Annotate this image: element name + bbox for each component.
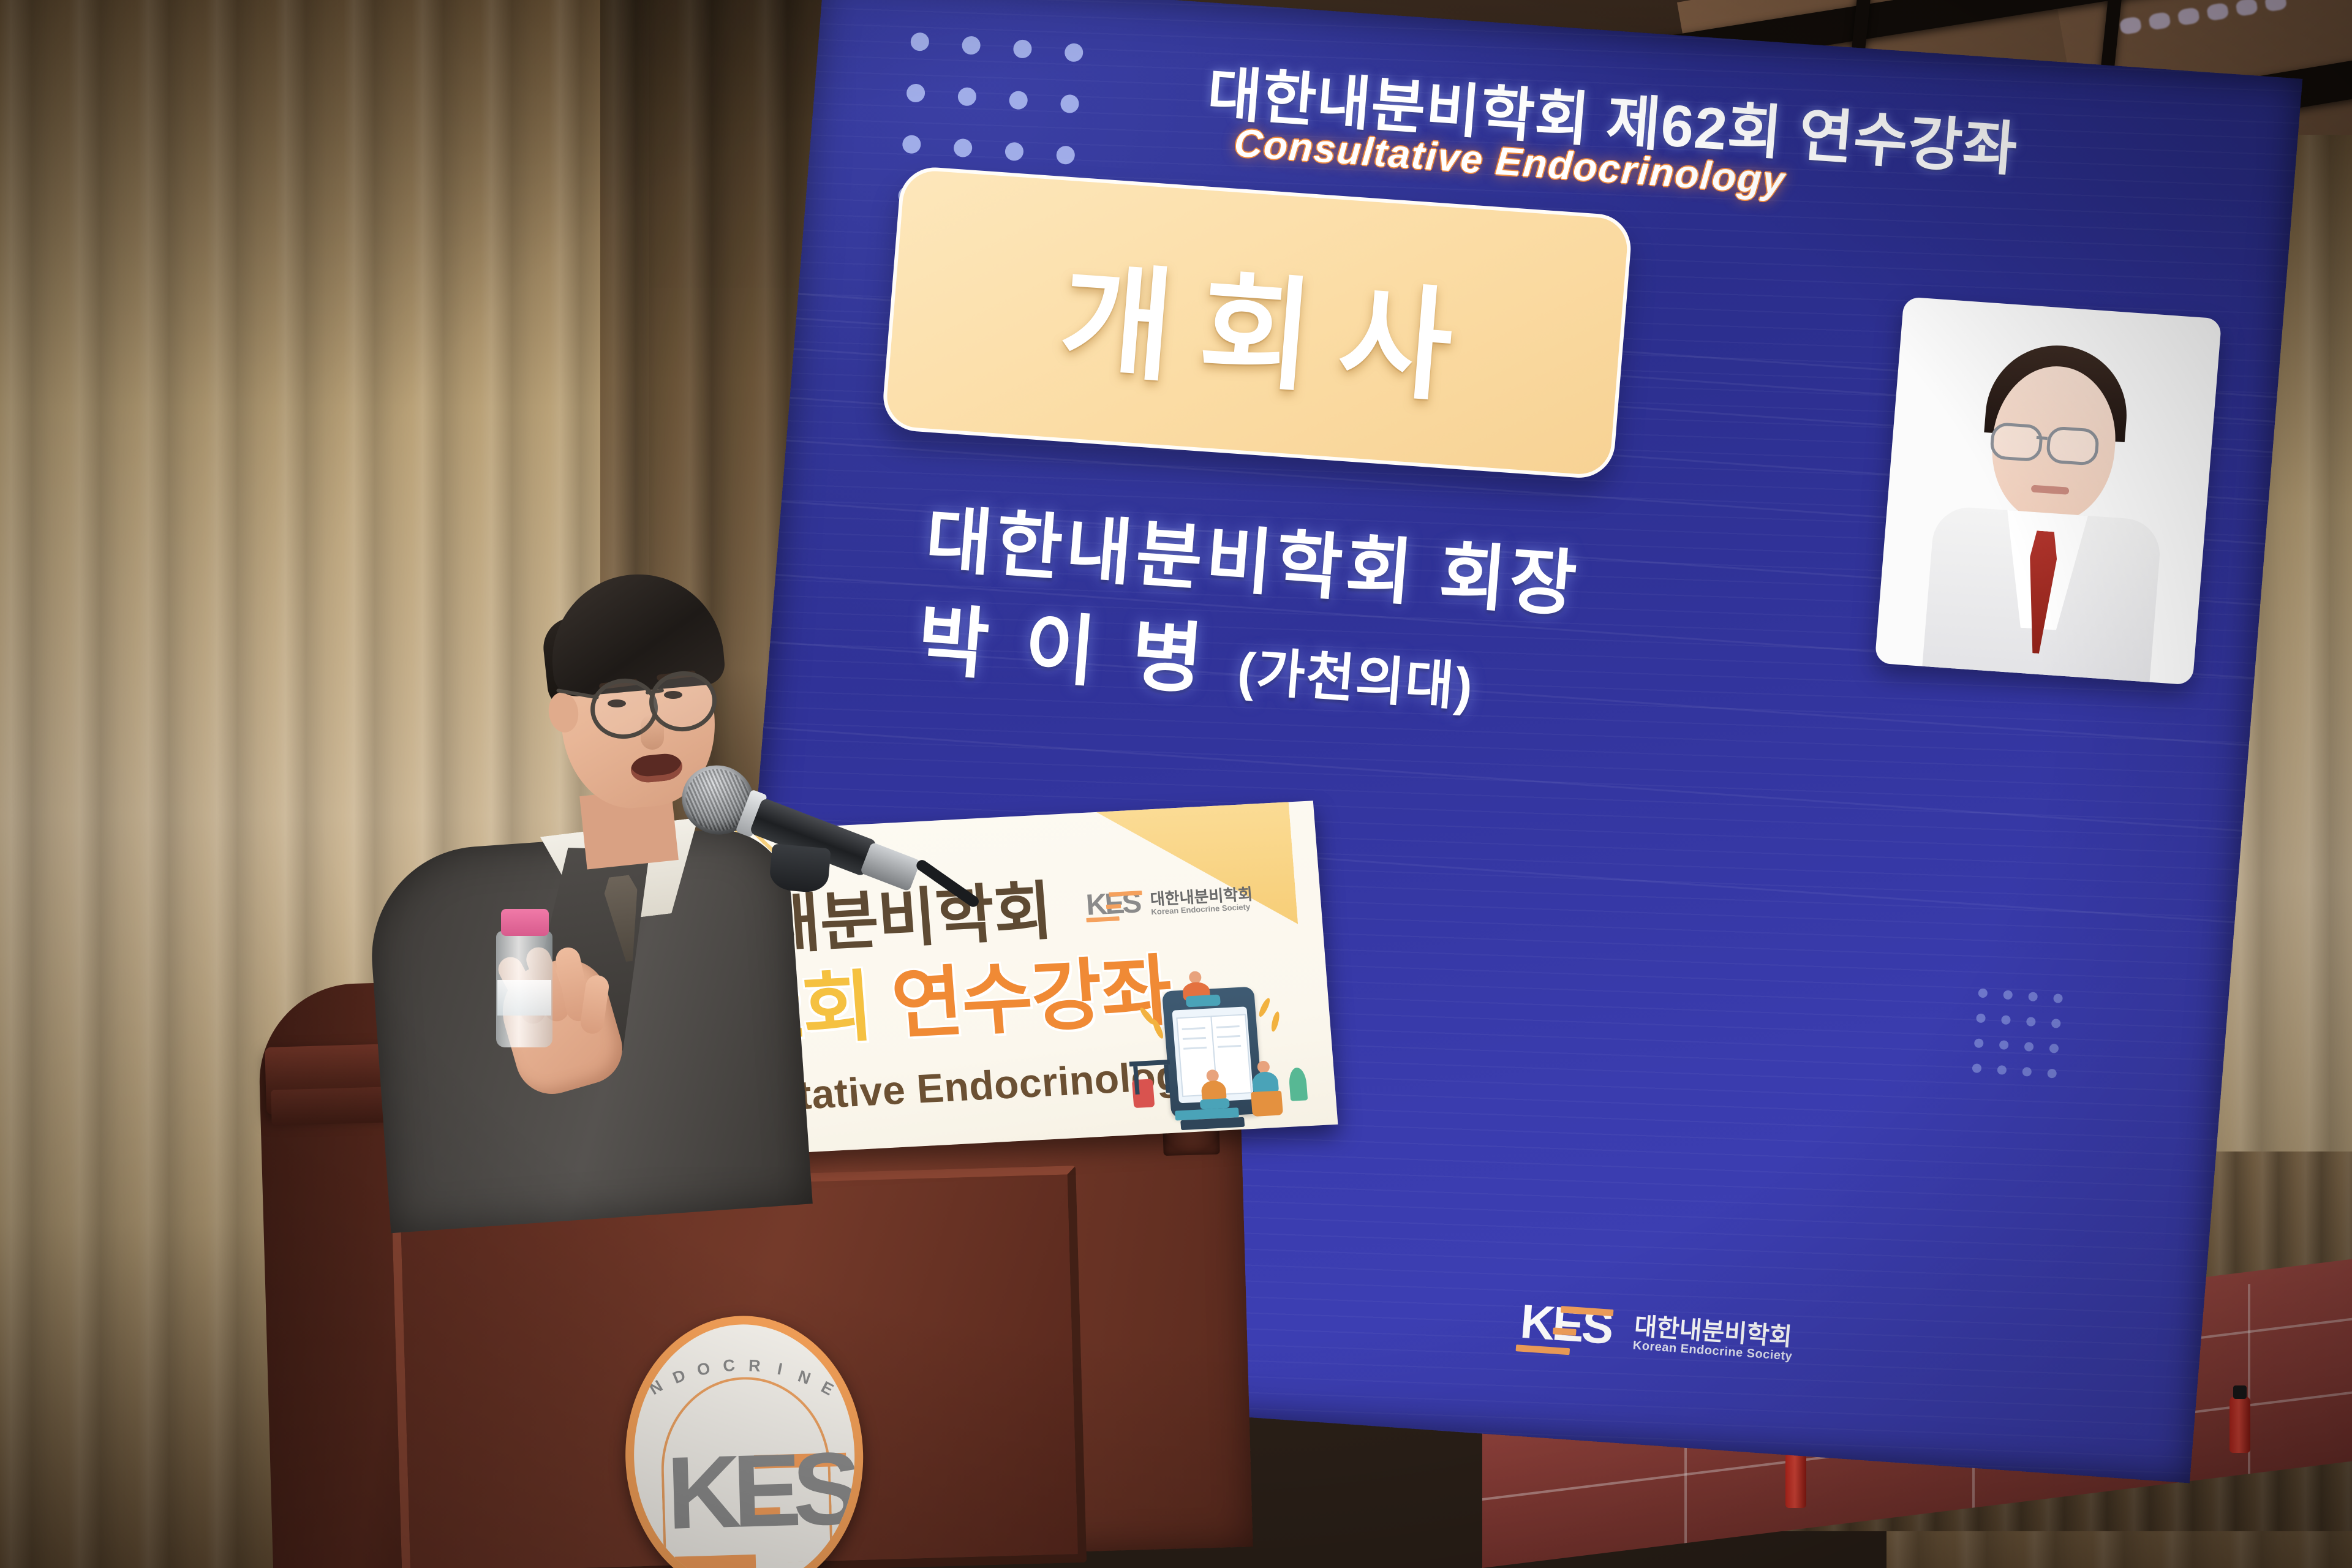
microphone-xlr-connector <box>860 842 921 892</box>
slide-speaker-affiliation: (가천의대) <box>1235 642 1476 717</box>
podium-kes-emblem: KOREAN ENDOCRINE SOCIETY KES <box>622 1313 867 1568</box>
conference-photo-scene: 대한내분비학회 제62회 연수강좌 Consultative Endocrino… <box>0 0 2352 1568</box>
illustration-plant <box>1288 1067 1308 1101</box>
emblem-kes-letters: KES <box>665 1436 854 1544</box>
sign-kes-logo: KES 대한내분비학회 Korean Endocrine Society <box>1085 883 1254 923</box>
decorative-dot-grid-bottom-right <box>1972 988 2063 1078</box>
microphone-clip-mount <box>769 843 831 894</box>
water-bottle-label <box>497 980 551 1016</box>
slide-title-text: 개회사 <box>1028 219 1487 427</box>
water-bottle-pink-cap <box>501 909 549 936</box>
illustration-figure-right-skirt <box>1251 1090 1283 1116</box>
fire-extinguisher-right <box>2229 1396 2250 1453</box>
slide-footer-logo: KES 대한내분비학회 Korean Endocrine Society <box>1518 1298 1796 1370</box>
slide-title-card: 개회사 <box>881 165 1634 480</box>
slide-speaker-name: 박 이 병 <box>914 597 1213 704</box>
speaker-nose <box>641 714 664 750</box>
fire-extinguisher-left <box>1785 1452 1806 1508</box>
portrait-glasses-right <box>2046 426 2100 466</box>
illustration-figure-top-legs <box>1186 995 1221 1008</box>
portrait-glasses-left <box>1989 422 2044 462</box>
sign-illustration <box>1103 938 1319 1132</box>
kes-logo-mark: KES <box>1518 1298 1626 1359</box>
slide-portrait-photo <box>1875 296 2222 685</box>
